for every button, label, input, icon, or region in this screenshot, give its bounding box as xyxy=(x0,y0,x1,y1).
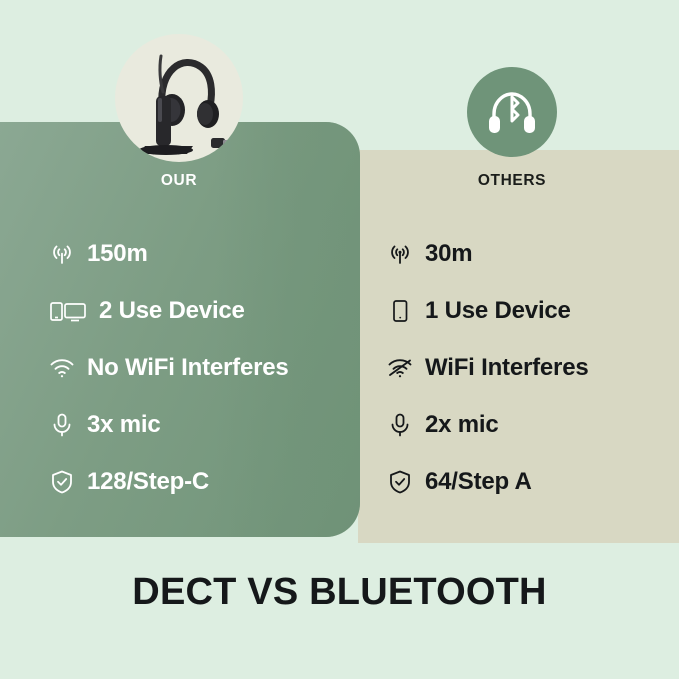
others-feature-encryption: 64/Step A xyxy=(386,453,589,510)
feature-text: 150m xyxy=(87,240,148,268)
feature-text: 64/Step A xyxy=(425,468,532,496)
our-feature-wifi: No WiFi Interferes xyxy=(48,339,289,396)
page-title: DECT VS BLUETOOTH xyxy=(0,571,679,614)
feature-text: 3x mic xyxy=(87,411,161,439)
shield-check-icon xyxy=(386,468,414,496)
others-feature-devices: 1 Use Device xyxy=(386,282,589,339)
others-feature-range: 30m xyxy=(386,225,589,282)
bluetooth-headphones-glyph xyxy=(485,87,539,137)
shield-check-icon xyxy=(48,468,76,496)
our-feature-devices: 2 Use Device xyxy=(48,282,289,339)
our-feature-encryption: 128/Step-C xyxy=(48,453,289,510)
wifi-icon xyxy=(48,354,76,382)
feature-text: 2x mic xyxy=(425,411,499,439)
broadcast-tower-icon xyxy=(48,240,76,268)
wireless-headset-product-image xyxy=(115,34,243,162)
broadcast-tower-icon xyxy=(386,240,414,268)
feature-text: 128/Step-C xyxy=(87,468,209,496)
bluetooth-headphones-icon xyxy=(467,67,557,157)
single-device-icon xyxy=(386,297,414,325)
feature-text: 1 Use Device xyxy=(425,297,571,325)
our-feature-range: 150m xyxy=(48,225,289,282)
feature-text: WiFi Interferes xyxy=(425,354,589,382)
headset-illustration xyxy=(115,34,243,162)
feature-text: 30m xyxy=(425,240,472,268)
feature-text: No WiFi Interferes xyxy=(87,354,289,382)
feature-text: 2 Use Device xyxy=(99,297,245,325)
multi-device-icon xyxy=(48,297,88,325)
others-feature-list: 30m 1 Use Device WiFi Int xyxy=(386,225,589,510)
others-feature-mic: 2x mic xyxy=(386,396,589,453)
microphone-icon xyxy=(48,411,76,439)
wifi-slash-icon xyxy=(386,354,414,382)
our-column-label: OUR xyxy=(115,172,243,190)
others-column-label: OTHERS xyxy=(447,172,577,190)
our-feature-list: 150m 2 Use Device xyxy=(48,225,289,510)
comparison-infographic: OUR OTHERS 150m xyxy=(0,0,679,679)
microphone-icon xyxy=(386,411,414,439)
our-feature-mic: 3x mic xyxy=(48,396,289,453)
others-feature-wifi: WiFi Interferes xyxy=(386,339,589,396)
